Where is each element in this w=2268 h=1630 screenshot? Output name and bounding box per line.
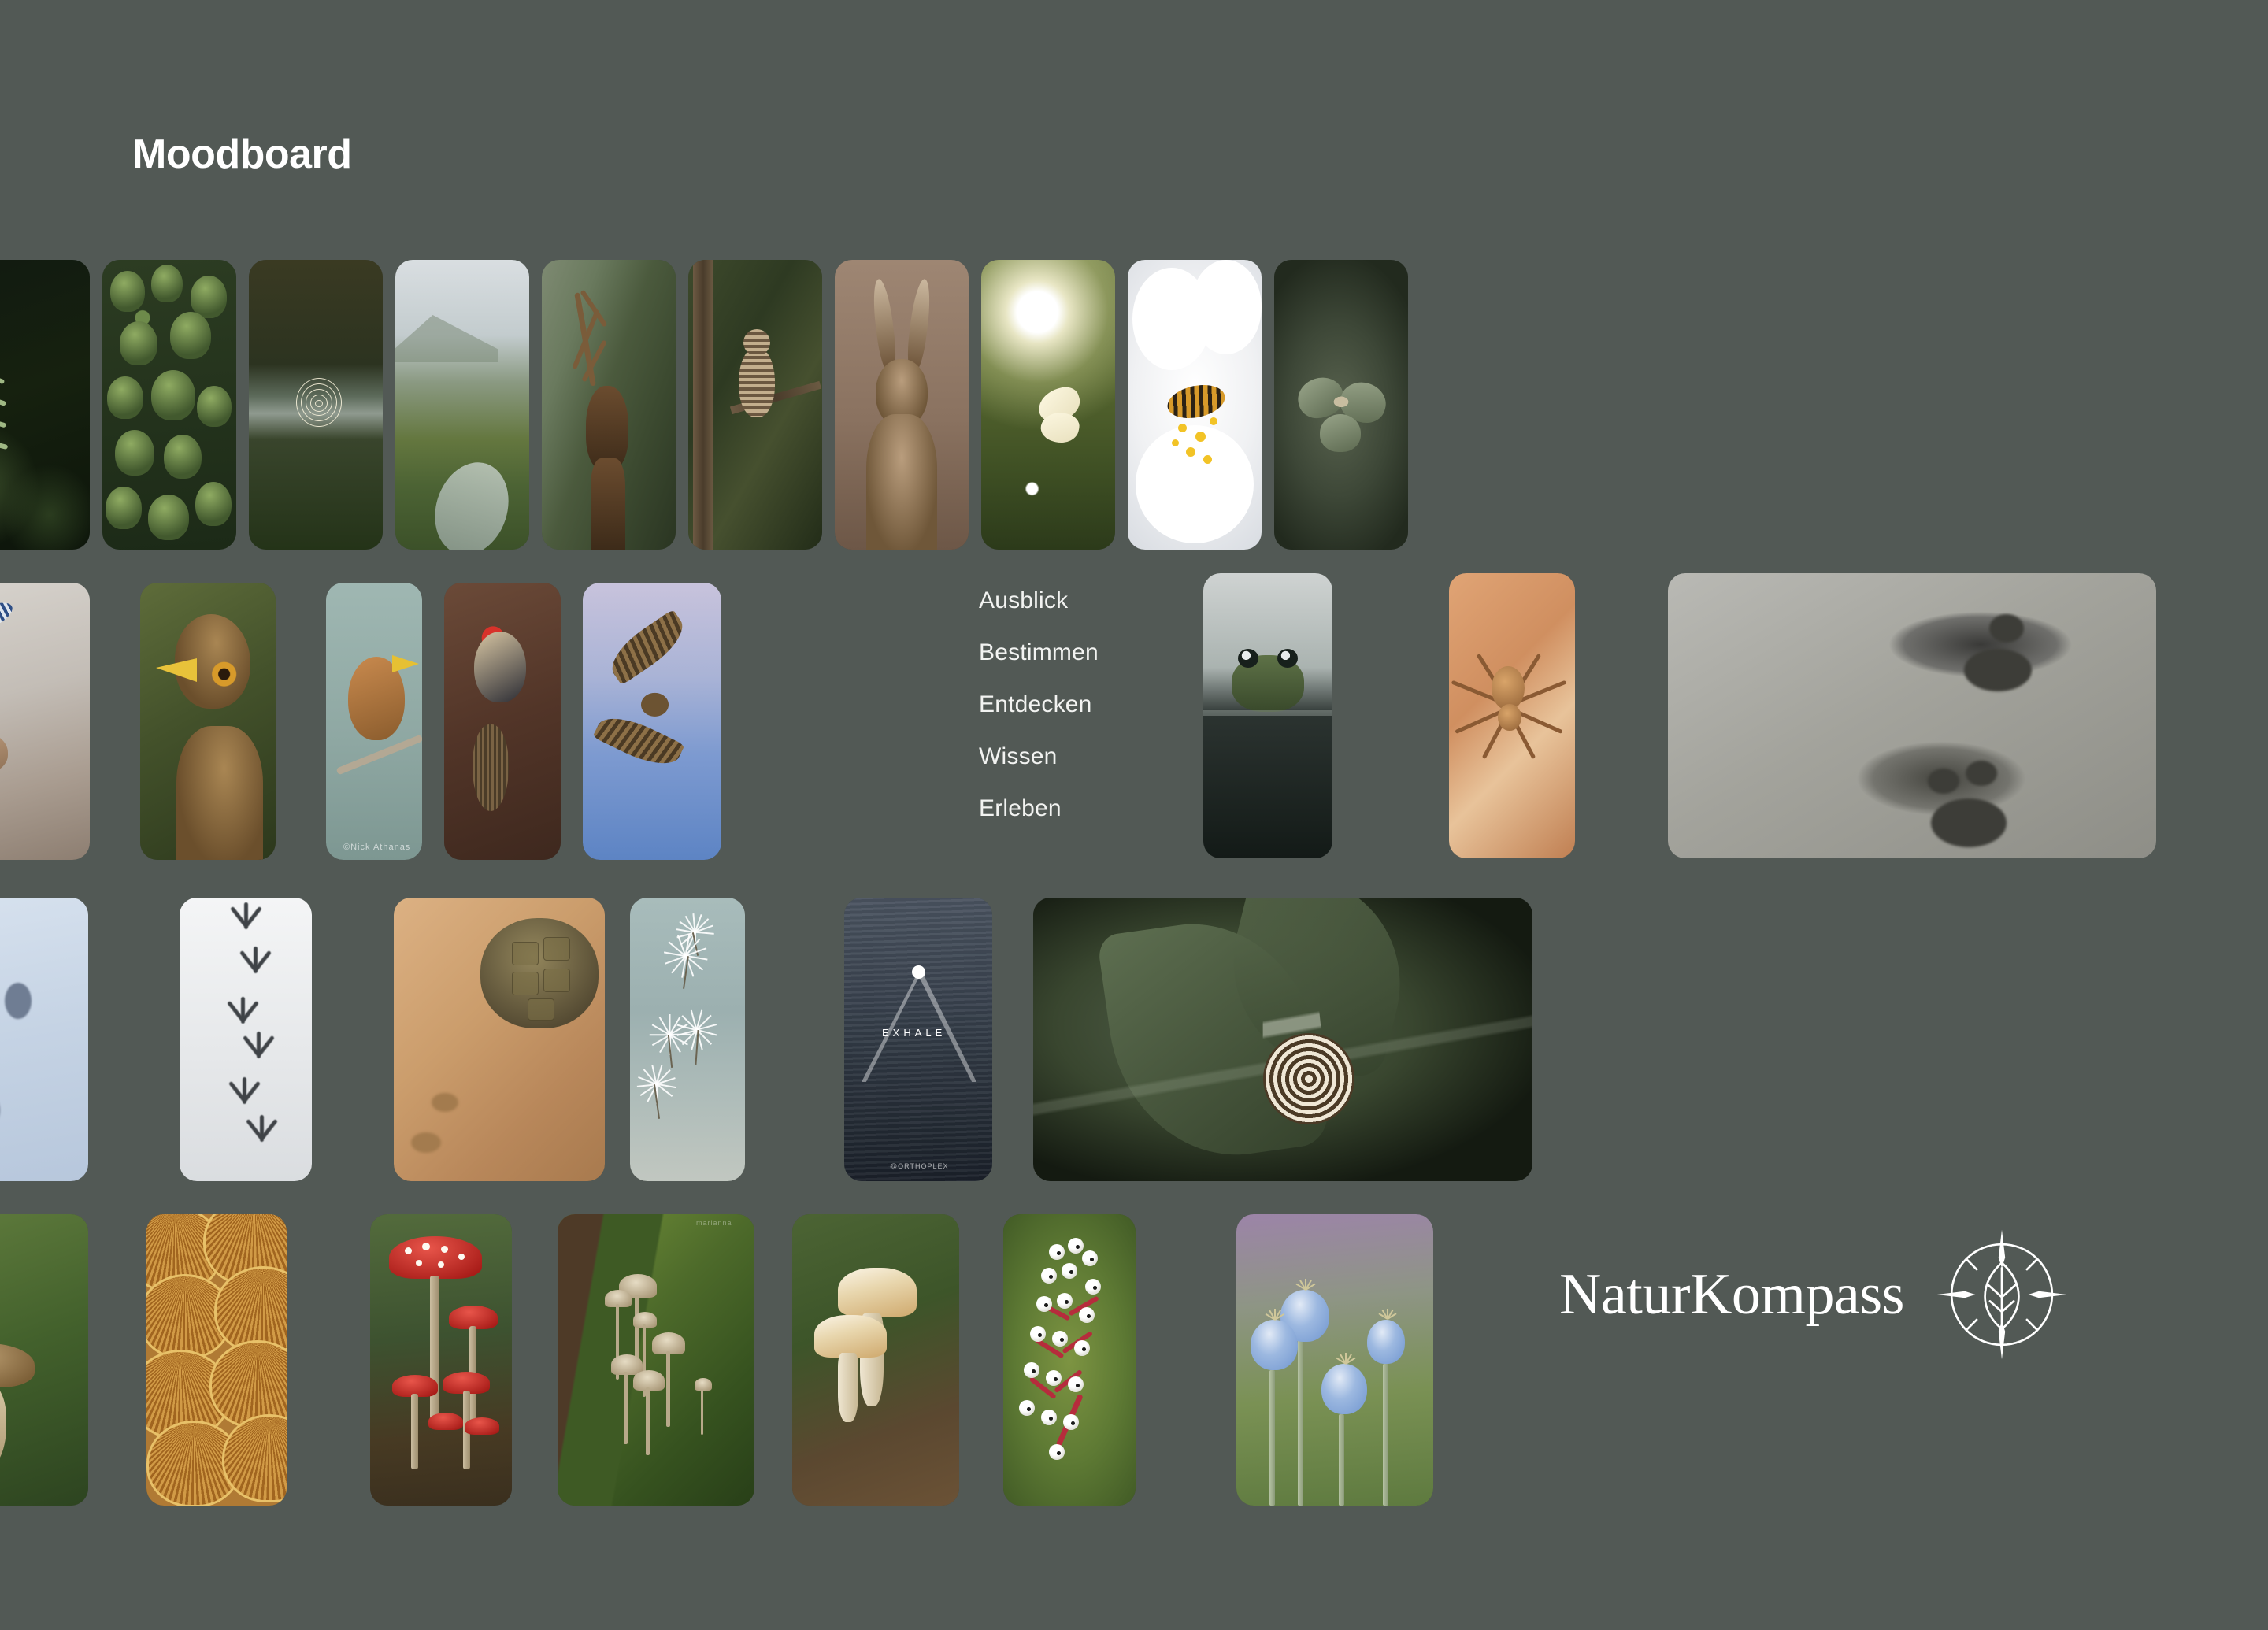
- nav-item-erleben[interactable]: Erleben: [979, 797, 1160, 821]
- watermark: @ORTHOPLEX: [890, 1162, 949, 1170]
- tile-goldfinch[interactable]: [444, 583, 561, 860]
- tile-tracks-blue-snow[interactable]: [0, 898, 88, 1181]
- tile-dandelion-seeds[interactable]: [630, 898, 745, 1181]
- tile-tortoise-sand[interactable]: [394, 898, 605, 1181]
- watermark: marianna: [696, 1219, 732, 1227]
- tile-eagle[interactable]: [140, 583, 276, 860]
- nav-item-bestimmen[interactable]: Bestimmen: [979, 641, 1160, 665]
- tile-fern-dark[interactable]: [0, 260, 90, 550]
- tile-butterfly[interactable]: [981, 260, 1115, 550]
- tile-misty-valley[interactable]: [395, 260, 529, 550]
- tile-gills[interactable]: [146, 1214, 287, 1506]
- tile-songbird[interactable]: ©Nick Athanas: [326, 583, 422, 860]
- tile-spider[interactable]: [1449, 573, 1575, 858]
- tile-mycena[interactable]: marianna: [558, 1214, 754, 1506]
- nav-item-ausblick[interactable]: Ausblick: [979, 589, 1160, 613]
- tile-poppy-pods[interactable]: [1236, 1214, 1433, 1506]
- watermark: ©Nick Athanas: [343, 843, 410, 852]
- tile-paw-tracks[interactable]: [1668, 573, 2156, 858]
- tile-honeybee[interactable]: [1128, 260, 1262, 550]
- tile-jays-snow[interactable]: [0, 583, 90, 860]
- page-title: Moodboard: [132, 131, 352, 178]
- tile-porcini[interactable]: [0, 1214, 88, 1506]
- tile-exhale-water[interactable]: EXHALE @ORTHOPLEX: [844, 898, 992, 1181]
- brand-wordmark: NaturKompass: [1559, 1261, 1904, 1328]
- tile-spiderweb[interactable]: [249, 260, 383, 550]
- tile-conifer-aerial[interactable]: [102, 260, 236, 550]
- nav-item-entdecken[interactable]: Entdecken: [979, 693, 1160, 717]
- tile-baneberry[interactable]: [1003, 1214, 1136, 1506]
- tile-bird-tracks-snow[interactable]: [180, 898, 312, 1181]
- nav-list: Ausblick Bestimmen Entdecken Wissen Erle…: [979, 589, 1160, 821]
- tile-owl[interactable]: [688, 260, 822, 550]
- tile-red-kite[interactable]: [583, 583, 721, 860]
- tile-frog[interactable]: [1203, 573, 1332, 858]
- tile-hare[interactable]: [835, 260, 969, 550]
- exhale-overlay-text: EXHALE: [882, 1027, 946, 1039]
- tile-red-deer[interactable]: [542, 260, 676, 550]
- moodboard-canvas: Moodboard: [0, 0, 2268, 1630]
- compass-leaf-icon: [1936, 1228, 2068, 1361]
- tile-chanterelle[interactable]: [792, 1214, 959, 1506]
- tile-moth-clover[interactable]: [1274, 260, 1408, 550]
- tile-fly-agaric[interactable]: [370, 1214, 512, 1506]
- nav-item-wissen[interactable]: Wissen: [979, 745, 1160, 769]
- brand-lockup: NaturKompass: [1559, 1228, 2068, 1361]
- tile-snail-leaf[interactable]: [1033, 898, 1532, 1181]
